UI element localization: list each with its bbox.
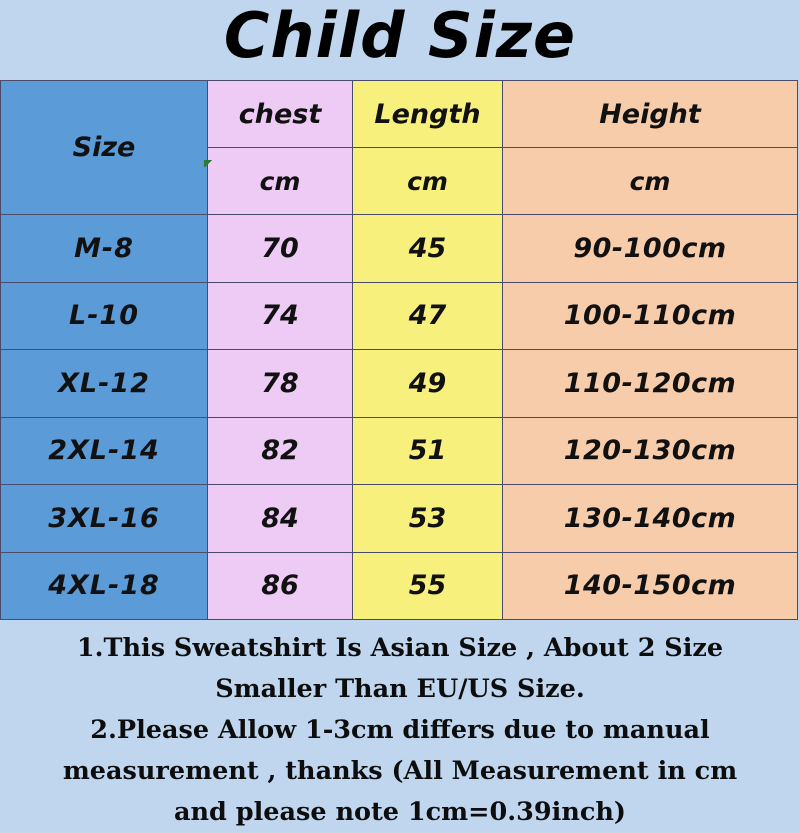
cell-height: 140-150cm: [503, 552, 798, 620]
size-chart-page: Child Size Size chest Length Height cm c…: [0, 0, 800, 800]
cell-length: 55: [353, 552, 503, 620]
header-cell-height: Height: [503, 81, 798, 148]
cell-size: XL-12: [1, 350, 208, 418]
cell-size: L-10: [1, 282, 208, 350]
cell-chest: 82: [208, 417, 353, 485]
table-row: XL-12 78 49 110-120cm: [1, 350, 798, 418]
cell-height: 100-110cm: [503, 282, 798, 350]
cell-size: 4XL-18: [1, 552, 208, 620]
header-cell-size: Size: [1, 81, 208, 215]
table-row: M-8 70 45 90-100cm: [1, 215, 798, 283]
cell-height: 90-100cm: [503, 215, 798, 283]
cell-length: 45: [353, 215, 503, 283]
cell-length: 51: [353, 417, 503, 485]
cell-size: 2XL-14: [1, 417, 208, 485]
size-table-container: Size chest Length Height cm cm cm M-8 70…: [0, 80, 797, 612]
note-line: 2.Please Allow 1-3cm differs due to manu…: [90, 710, 709, 751]
header-unit-chest: cm: [208, 148, 353, 215]
cell-height: 120-130cm: [503, 417, 798, 485]
note-line: and please note 1cm=0.39inch): [174, 792, 626, 833]
header-unit-length: cm: [353, 148, 503, 215]
table-row: 2XL-14 82 51 120-130cm: [1, 417, 798, 485]
cell-chest: 86: [208, 552, 353, 620]
cell-chest: 78: [208, 350, 353, 418]
cell-length: 53: [353, 485, 503, 553]
cell-length: 49: [353, 350, 503, 418]
header-unit-height: cm: [503, 148, 798, 215]
cell-size: 3XL-16: [1, 485, 208, 553]
size-table: Size chest Length Height cm cm cm M-8 70…: [0, 80, 798, 620]
cell-height: 110-120cm: [503, 350, 798, 418]
page-title: Child Size: [0, 0, 800, 78]
notes-section: 1.This Sweatshirt Is Asian Size , About …: [0, 620, 800, 792]
cell-chest: 70: [208, 215, 353, 283]
table-row: 4XL-18 86 55 140-150cm: [1, 552, 798, 620]
note-line: 1.This Sweatshirt Is Asian Size , About …: [77, 628, 723, 669]
cell-chest: 74: [208, 282, 353, 350]
header-cell-length: Length: [353, 81, 503, 148]
table-row: L-10 74 47 100-110cm: [1, 282, 798, 350]
table-header-row-main: Size chest Length Height: [1, 81, 798, 148]
cell-size: M-8: [1, 215, 208, 283]
note-line: Smaller Than EU/US Size.: [215, 669, 585, 710]
table-row: 3XL-16 84 53 130-140cm: [1, 485, 798, 553]
cell-height: 130-140cm: [503, 485, 798, 553]
header-cell-chest: chest: [208, 81, 353, 148]
note-line: measurement , thanks (All Measurement in…: [63, 751, 737, 792]
cell-length: 47: [353, 282, 503, 350]
cell-chest: 84: [208, 485, 353, 553]
